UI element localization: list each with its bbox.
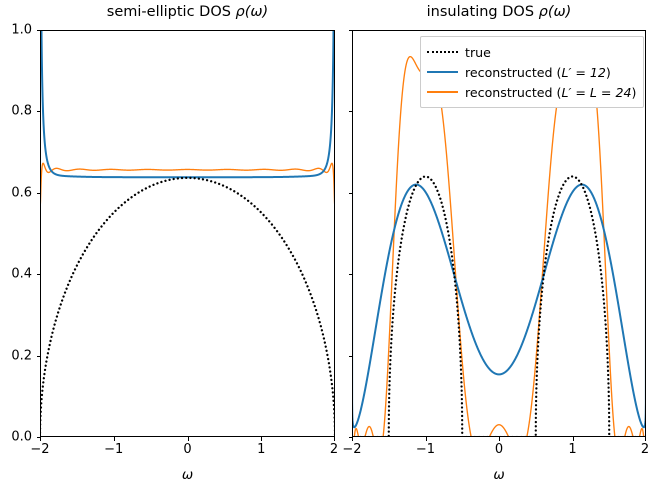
yticklabel-4: 0.8 [2, 104, 32, 119]
xticklabel-right-0: −2 [342, 442, 361, 457]
yticklabel-1: 0.2 [2, 348, 32, 363]
xtick-right-3 [573, 437, 574, 441]
xticklabel-right-4: 2 [641, 442, 649, 457]
ytick-right-2 [349, 274, 353, 275]
panel-title-semi-elliptic: semi-elliptic DOS ρ(ω) [40, 4, 335, 20]
xticklabel-left-3: 1 [257, 442, 265, 457]
xtick-right-1 [426, 437, 427, 441]
legend: true reconstructed (L′ = 12) reconstruct… [420, 36, 644, 108]
ytick-left-5 [37, 30, 41, 31]
legend-item-reconstructed-12[interactable]: reconstructed (L′ = 12) [427, 62, 636, 82]
xtick-right-2 [499, 437, 500, 441]
legend-swatch-true-icon [427, 45, 458, 59]
legend-swatch-blue-icon [427, 65, 458, 79]
ytick-right-4 [349, 111, 353, 112]
xtick-right-4 [645, 437, 646, 441]
xtick-right-0 [352, 437, 353, 441]
legend-label-reconstructed-12: reconstructed (L′ = 12) [465, 65, 611, 80]
panel-title-text: insulating DOS [427, 4, 539, 20]
xticklabel-right-1: −1 [416, 442, 435, 457]
yticklabel-2: 0.4 [2, 267, 32, 282]
legend-label-reconstructed-24: reconstructed (L′ = L = 24) [465, 85, 636, 100]
xticklabel-right-3: 1 [568, 442, 576, 457]
panel-insulating: insulating DOS ρ(ω) −2 −1 0 1 2 ω true [352, 30, 646, 437]
ytick-right-5 [349, 30, 353, 31]
xticklabel-left-4: 2 [330, 442, 338, 457]
figure-canvas: semi-elliptic DOS ρ(ω) −2 −1 0 1 2 0.0 0… [0, 0, 656, 497]
xtick-left-2 [188, 437, 189, 441]
xtick-left-3 [261, 437, 262, 441]
ytick-left-1 [37, 356, 41, 357]
ytick-left-3 [37, 193, 41, 194]
ytick-left-2 [37, 274, 41, 275]
legend-item-true[interactable]: true [427, 42, 636, 62]
xticklabel-right-2: 0 [495, 442, 503, 457]
xticklabel-left-2: 0 [183, 442, 191, 457]
xticklabel-left-0: −2 [30, 442, 49, 457]
xtick-left-1 [114, 437, 115, 441]
panel-title-insulating: insulating DOS ρ(ω) [352, 4, 646, 20]
panel-title-text: semi-elliptic DOS [107, 4, 236, 20]
yticklabel-5: 1.0 [2, 23, 32, 38]
ytick-right-1 [349, 356, 353, 357]
ytick-right-3 [349, 193, 353, 194]
legend-label-true: true [465, 45, 491, 60]
ytick-left-0 [37, 437, 41, 438]
panel-title-math: ρ(ω) [539, 4, 572, 20]
legend-item-reconstructed-24[interactable]: reconstructed (L′ = L = 24) [427, 82, 636, 102]
xtick-left-4 [334, 437, 335, 441]
panel-title-math: ρ(ω) [236, 4, 269, 20]
panel-semi-elliptic: semi-elliptic DOS ρ(ω) −2 −1 0 1 2 0.0 0… [40, 30, 335, 437]
yticklabel-0: 0.0 [2, 430, 32, 445]
ytick-left-4 [37, 111, 41, 112]
ytick-right-0 [349, 437, 353, 438]
axes-frame-left [40, 30, 335, 437]
xlabel-right: ω [352, 467, 646, 483]
yticklabel-3: 0.6 [2, 185, 32, 200]
xtick-left-0 [40, 437, 41, 441]
xlabel-left: ω [40, 467, 335, 483]
xticklabel-left-1: −1 [104, 442, 123, 457]
legend-swatch-orange-icon [427, 85, 458, 99]
